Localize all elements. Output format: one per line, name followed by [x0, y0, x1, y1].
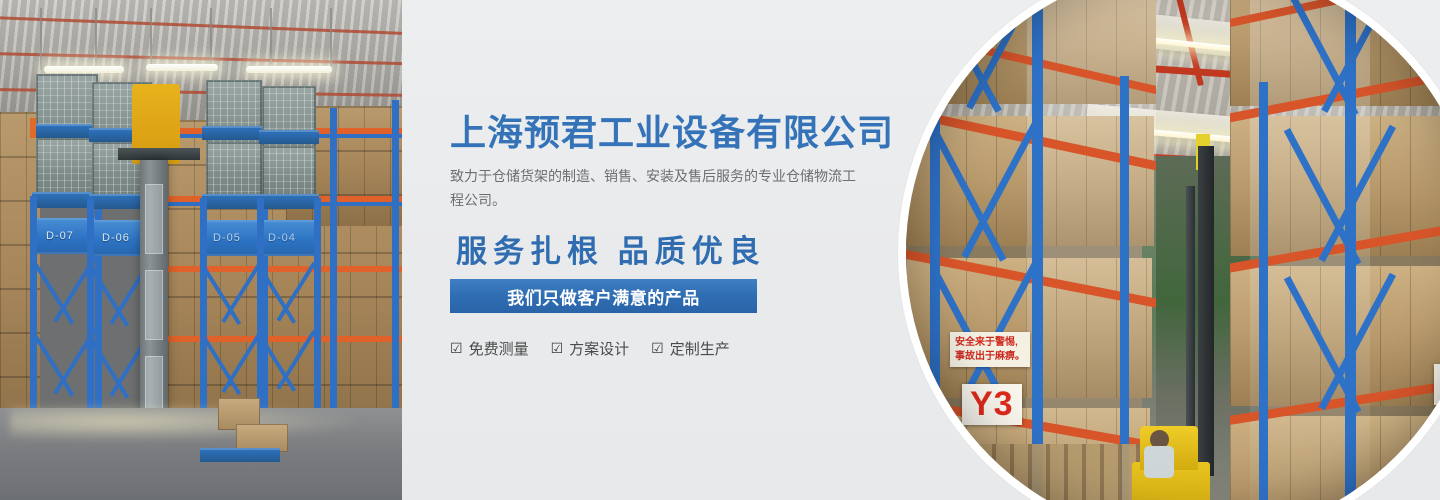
- right-warehouse-photo: 安全来于警惕, 事故出于麻痹。 Y3: [906, 0, 1440, 500]
- hero-banner: D-07 D-06: [0, 0, 1440, 500]
- feature-list: ☑ 免费测量 ☑ 方案设计 ☑ 定制生产: [450, 338, 730, 359]
- pallet: [259, 130, 319, 144]
- roof-hanger: [270, 8, 272, 64]
- roof-hanger: [210, 8, 212, 64]
- aisle-sign-y3-left: Y3: [962, 384, 1022, 425]
- feature-label: 免费测量: [469, 338, 529, 359]
- right-pallet-rack: Y3: [1230, 0, 1440, 500]
- safety-sign: 安全来于警惕, 事故出于麻痹。: [950, 332, 1030, 367]
- feature-item-solution-design: ☑ 方案设计: [551, 338, 630, 359]
- ceiling-light: [146, 64, 218, 71]
- company-title: 上海预君工业设备有限公司: [450, 104, 894, 156]
- rack-upright: [330, 108, 337, 448]
- safety-sign-line-1: 安全来于警惕,: [955, 336, 1025, 350]
- left-pallet-rack: 安全来于警惕, 事故出于麻痹。 Y3: [906, 0, 1156, 500]
- pallet: [259, 194, 319, 209]
- checkbox-checked-icon: ☑: [651, 341, 664, 355]
- rack-upright: [1032, 0, 1043, 500]
- banner-content: 上海预君工业设备有限公司 致力于仓储货架的制造、销售、安装及售后服务的专业仓储物…: [450, 0, 920, 500]
- floor-light-reflection: [10, 402, 370, 442]
- checkbox-checked-icon: ☑: [551, 341, 564, 355]
- mast-window: [145, 270, 163, 340]
- feature-label: 定制生产: [670, 338, 730, 359]
- forklift-mast: [1198, 146, 1214, 476]
- right-photo-scene: 安全来于警惕, 事故出于麻痹。 Y3: [906, 0, 1440, 500]
- bay-label: D-05: [213, 232, 241, 244]
- operator-torso: [1144, 446, 1174, 478]
- aisle-sign-y3-right: Y3: [1434, 364, 1440, 405]
- forklift: [1120, 386, 1216, 500]
- left-warehouse-photo: D-07 D-06: [0, 0, 402, 500]
- mast-window: [145, 184, 163, 254]
- bay-label: D-07: [46, 230, 74, 242]
- rack-upright: [392, 100, 399, 448]
- roof-hanger: [40, 8, 42, 70]
- feature-label: 方案设计: [569, 338, 629, 359]
- bay-label: D-04: [268, 232, 296, 244]
- ground-pallet: [200, 448, 280, 462]
- feature-item-free-measurement: ☑ 免费测量: [450, 338, 529, 359]
- rack-upright: [930, 0, 940, 500]
- rack-upright: [1259, 82, 1268, 500]
- stacker-arm: [118, 148, 200, 160]
- ceiling-light: [246, 66, 332, 73]
- ceiling-light: [44, 66, 124, 73]
- company-description: 致力于仓储货架的制造、销售、安装及售后服务的专业仓储物流工程公司。: [450, 164, 862, 212]
- pallet: [202, 126, 266, 140]
- floor-pallets: [906, 444, 1156, 500]
- company-slogan: 服务扎根 品质优良: [456, 226, 766, 271]
- bay-label: D-06: [102, 232, 130, 244]
- roof-hanger: [330, 8, 332, 66]
- left-photo-scene: D-07 D-06: [0, 0, 402, 500]
- feature-item-custom-production: ☑ 定制生产: [651, 338, 730, 359]
- cta-button[interactable]: 我们只做客户满意的产品: [450, 279, 757, 313]
- safety-sign-line-2: 事故出于麻痹。: [955, 350, 1025, 364]
- rack-upright: [30, 118, 36, 138]
- roof-hanger: [150, 8, 152, 66]
- checkbox-checked-icon: ☑: [450, 341, 463, 355]
- roof-hanger: [95, 8, 97, 68]
- forklift-operator: [1144, 430, 1174, 476]
